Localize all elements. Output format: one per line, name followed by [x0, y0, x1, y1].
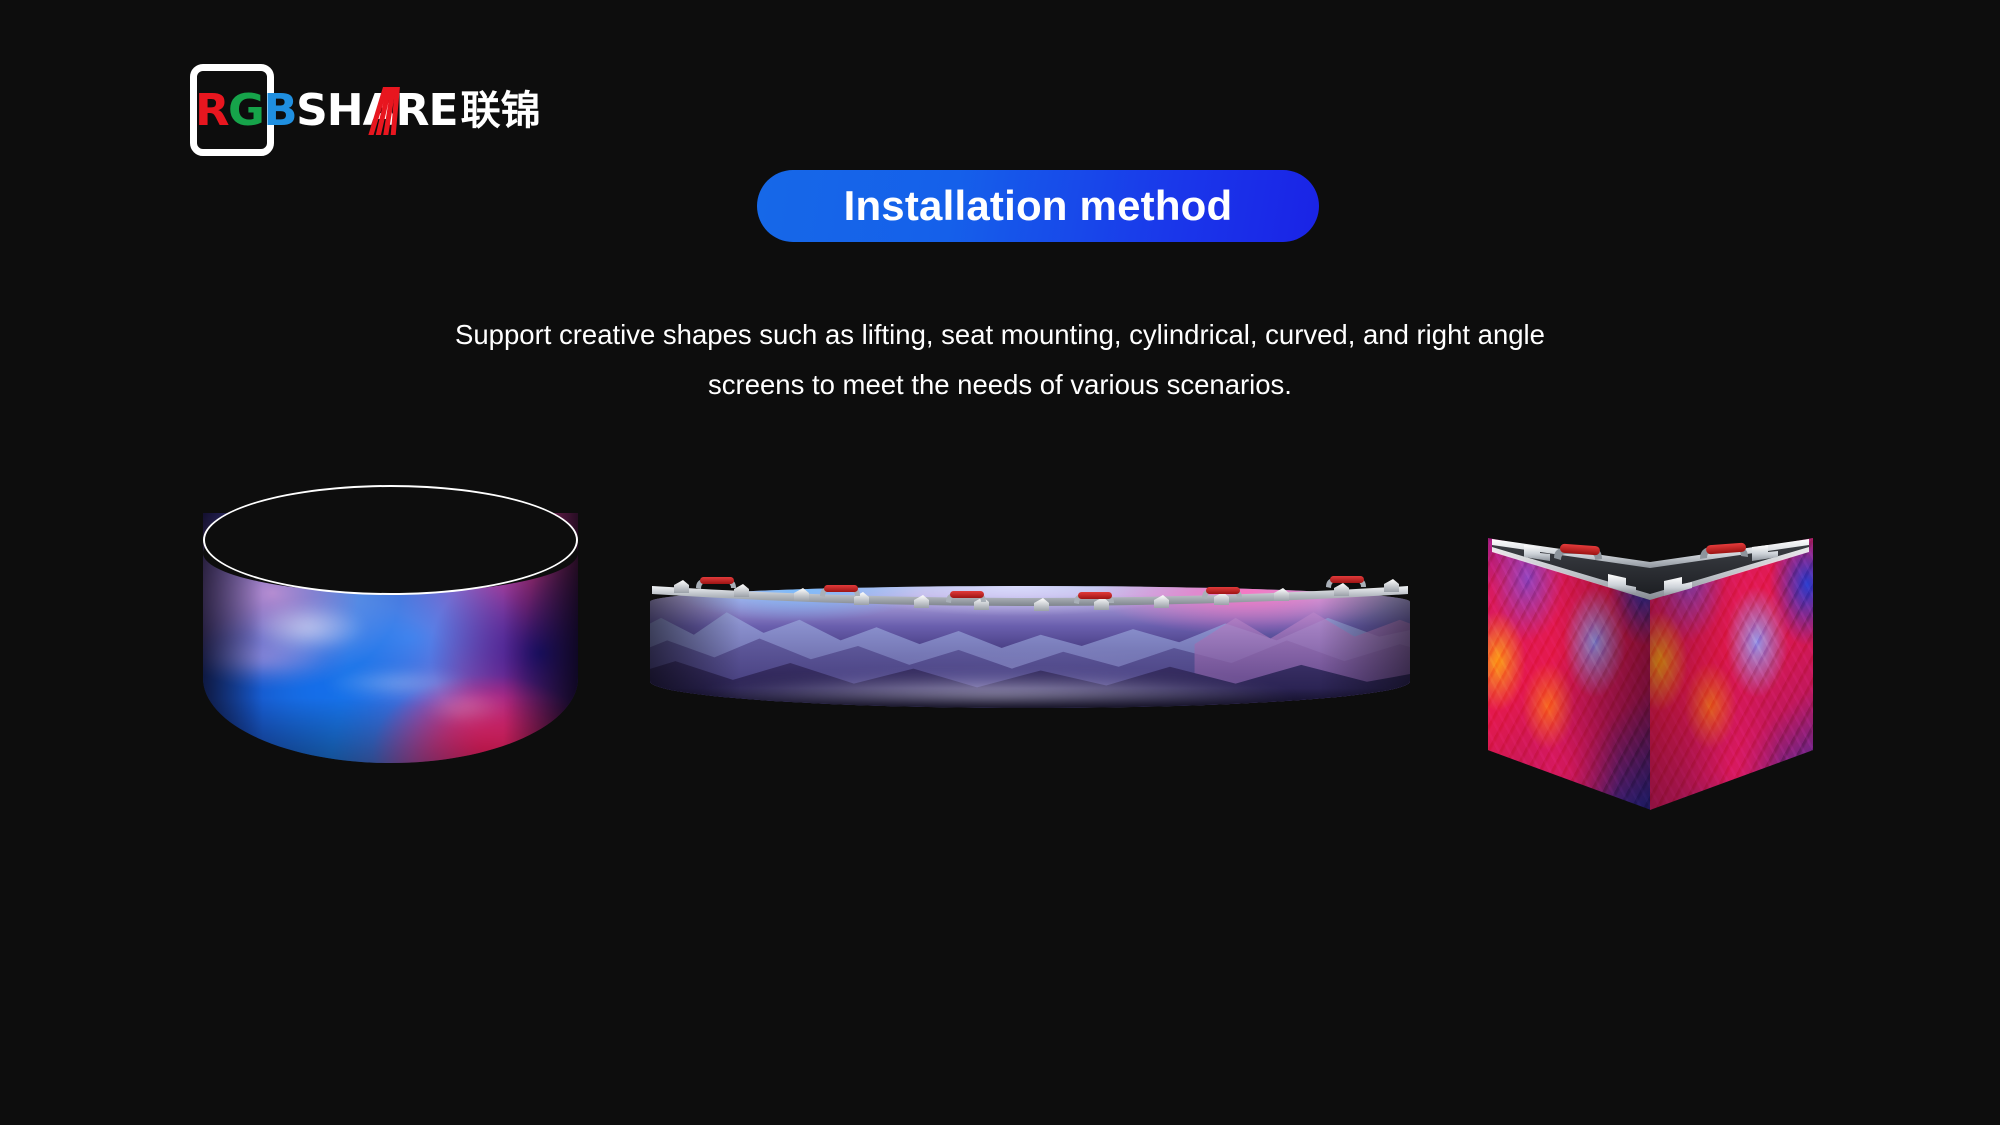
- page-title-banner: Installation method: [757, 170, 1319, 242]
- page-title: Installation method: [844, 182, 1233, 230]
- brand-logo: RGB SHARE 联锦: [190, 64, 560, 156]
- subtitle-line-1: Support creative shapes such as lifting,…: [400, 310, 1600, 360]
- logo-wordmark: RGB SHARE 联锦: [196, 89, 541, 133]
- subtitle-line-2: screens to meet the needs of various sce…: [400, 360, 1600, 410]
- cylinder-top-rim: [203, 485, 578, 595]
- logo-letter-g: G: [228, 85, 263, 136]
- product-cylindrical-led-screen: [203, 485, 578, 790]
- logo-chinese-text: 联锦: [461, 91, 541, 131]
- slide-installation-method: RGB SHARE 联锦 Installation method Support…: [0, 0, 2000, 1125]
- product-curved-led-screen: [650, 572, 1410, 722]
- logo-rgb-text: RGB: [195, 89, 296, 133]
- curved-rigging-bar: [650, 572, 1410, 612]
- product-right-angle-led-screen: [1488, 538, 1813, 838]
- logo-letter-b: B: [263, 85, 296, 136]
- subtitle-block: Support creative shapes such as lifting,…: [400, 310, 1600, 410]
- right-angle-top-frame: [1488, 536, 1813, 628]
- curved-bottom-shading: [650, 688, 1410, 708]
- logo-share-label: SHARE: [296, 85, 458, 136]
- cylinder-bottom-shading: [203, 698, 578, 763]
- logo-share-text: SHARE: [296, 89, 458, 133]
- logo-letter-r: R: [195, 85, 228, 136]
